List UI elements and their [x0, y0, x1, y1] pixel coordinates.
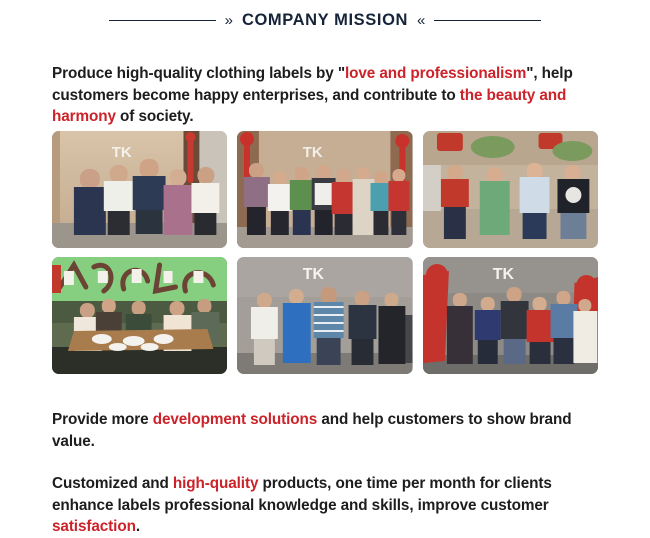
- mission-paragraph: Produce high-quality clothing labels by …: [52, 63, 600, 128]
- section-header: » COMPANY MISSION «: [0, 0, 650, 28]
- page-title: COMPANY MISSION: [242, 12, 408, 29]
- company-mission-section: » COMPANY MISSION « Produce high-quality…: [0, 0, 650, 526]
- text-run: Provide more: [52, 411, 153, 428]
- customized-paragraph: Customized and high-quality products, on…: [52, 473, 600, 538]
- photo-team-dinner-graffiti[interactable]: [52, 257, 227, 374]
- double-left-chevron-icon: «: [417, 13, 425, 28]
- highlighted-text-run: satisfaction: [52, 518, 136, 535]
- solutions-paragraph: Provide more development solutions and h…: [52, 409, 600, 452]
- photo-gallery: TK TK: [52, 131, 598, 374]
- photo-four-visitors-market[interactable]: [423, 131, 598, 248]
- highlighted-text-run: high-quality: [173, 475, 258, 492]
- photo-six-new-year[interactable]: TK: [423, 257, 598, 374]
- header-rule-left: [109, 20, 216, 21]
- svg-text:TK: TK: [303, 144, 323, 161]
- double-right-chevron-icon: »: [225, 13, 233, 28]
- header-rule-right: [434, 20, 541, 21]
- photo-large-team-lobby[interactable]: TK: [237, 131, 412, 248]
- text-run: of society.: [116, 108, 194, 125]
- photo-team-office-beige[interactable]: TK: [52, 131, 227, 248]
- svg-text:TK: TK: [303, 266, 325, 283]
- svg-text:TK: TK: [112, 144, 132, 161]
- photo-five-thumbs-up[interactable]: TK: [237, 257, 412, 374]
- text-run: .: [136, 518, 140, 535]
- highlighted-text-run: love and professionalism: [345, 65, 526, 82]
- text-run: Customized and: [52, 475, 173, 492]
- text-run: Produce high-quality clothing labels by …: [52, 65, 345, 82]
- highlighted-text-run: development solutions: [153, 411, 318, 428]
- svg-text:TK: TK: [492, 266, 514, 283]
